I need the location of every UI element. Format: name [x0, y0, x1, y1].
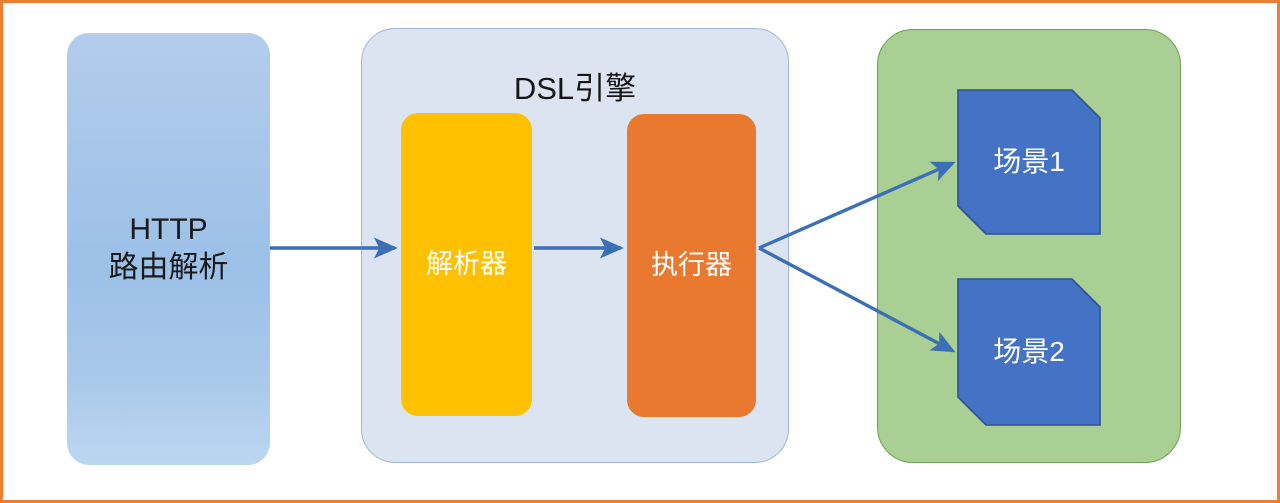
diagram-canvas: HTTP 路由解析 DSL引擎 解析器 执行器 场景1 场景2 [0, 0, 1280, 503]
node-executor-label: 执行器 [651, 248, 732, 283]
node-scenario-1-label: 场景1 [993, 144, 1065, 180]
node-parser[interactable]: 解析器 [401, 113, 532, 416]
node-scenario-1[interactable]: 场景1 [958, 90, 1100, 234]
node-scenario-2[interactable]: 场景2 [958, 279, 1100, 425]
node-executor[interactable]: 执行器 [627, 114, 756, 417]
node-dsl-engine-label: DSL引擎 [362, 63, 788, 108]
node-parser-label: 解析器 [426, 247, 507, 282]
node-http-routing[interactable]: HTTP 路由解析 [67, 33, 270, 465]
node-http-routing-label: HTTP 路由解析 [109, 211, 229, 288]
node-scenario-2-label: 场景2 [993, 334, 1065, 370]
